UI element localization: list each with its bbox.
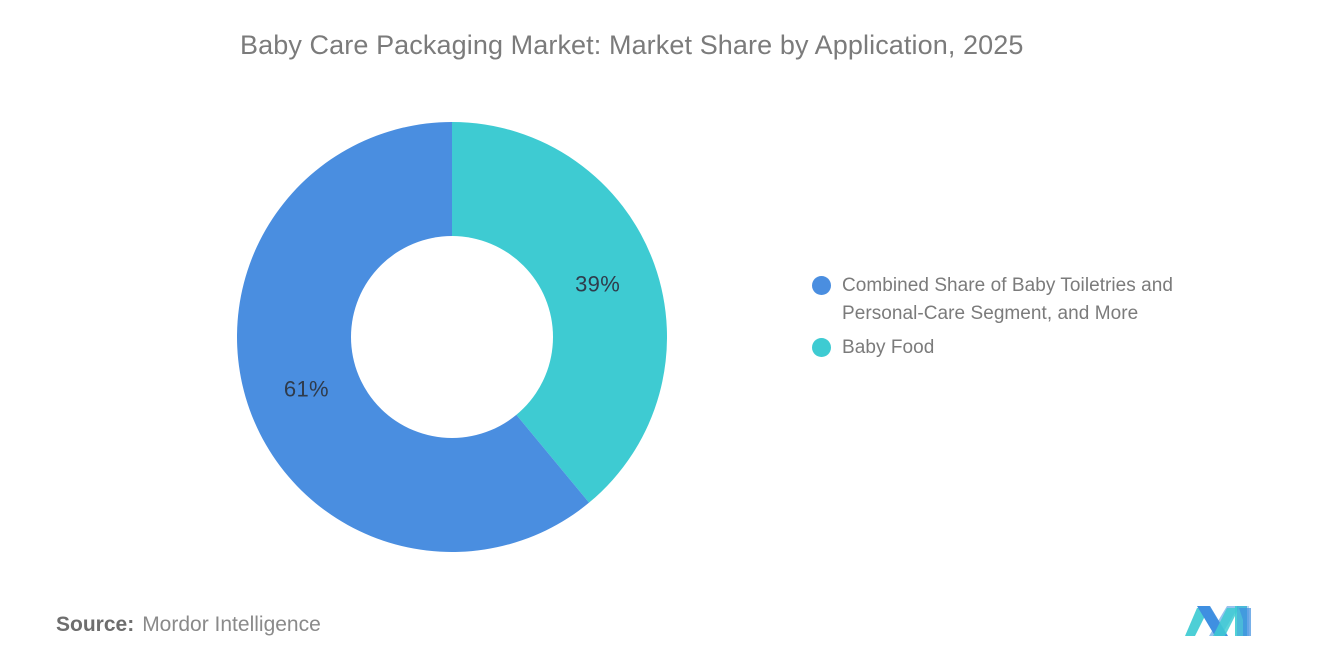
chart-legend: Combined Share of Baby Toiletries and Pe… <box>812 272 1262 368</box>
legend-swatch-icon-combined-share <box>812 276 831 295</box>
source-value: Mordor Intelligence <box>142 613 321 636</box>
donut-chart-svg: 61% 39% <box>237 122 667 552</box>
source-attribution: Source:Mordor Intelligence <box>56 613 321 637</box>
data-label-combined-share: 61% <box>284 376 329 401</box>
page-title: Baby Care Packaging Market: Market Share… <box>240 30 1240 61</box>
legend-item-baby-food[interactable]: Baby Food <box>812 334 1262 362</box>
legend-item-combined-share[interactable]: Combined Share of Baby Toiletries and Pe… <box>812 272 1262 328</box>
chart-canvas: Baby Care Packaging Market: Market Share… <box>0 0 1320 665</box>
data-label-baby-food: 39% <box>575 272 620 297</box>
legend-swatch-icon-baby-food <box>812 338 831 357</box>
legend-label-combined-share: Combined Share of Baby Toiletries and Pe… <box>842 272 1242 328</box>
donut-chart: 61% 39% <box>237 122 667 552</box>
source-label: Source: <box>56 613 134 636</box>
mordor-intelligence-logo-icon <box>1183 600 1257 638</box>
donut-hole <box>351 236 553 438</box>
legend-label-baby-food: Baby Food <box>842 334 934 362</box>
